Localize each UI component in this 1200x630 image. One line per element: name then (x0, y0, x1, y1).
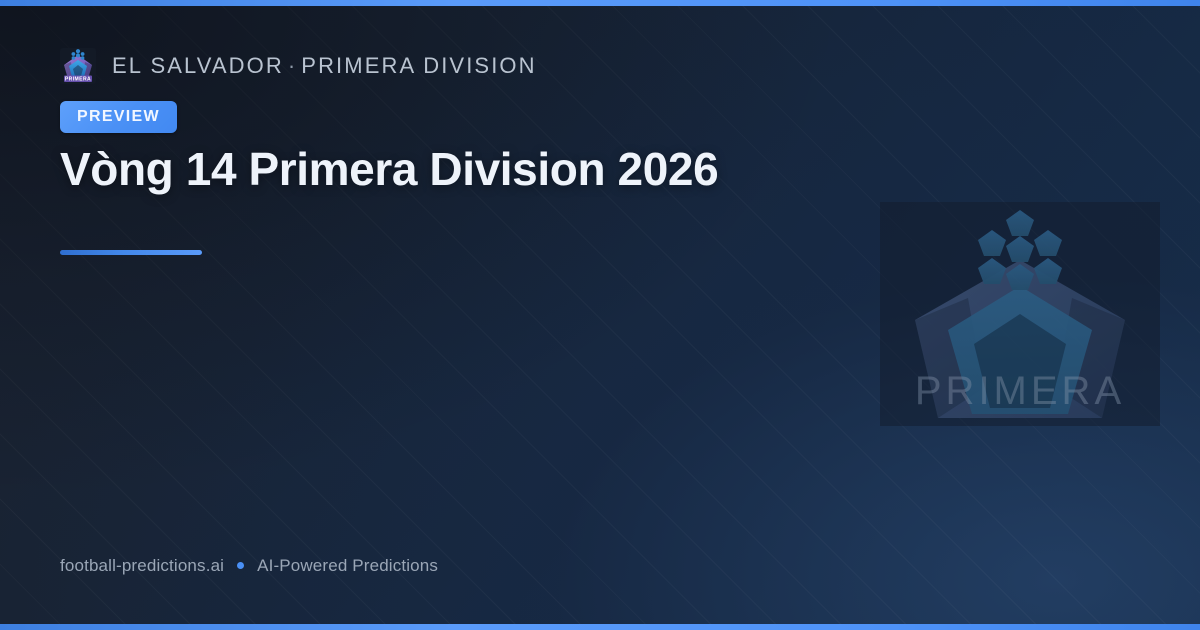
league-header-text: EL SALVADOR·PRIMERA DIVISION (112, 55, 537, 77)
league-header: PRIMERA EL SALVADOR·PRIMERA DIVISION (60, 48, 537, 84)
league-crest-icon: PRIMERA (60, 48, 96, 84)
dot-separator-icon (237, 562, 244, 569)
card-content: PRIMERA EL SALVADOR·PRIMERA DIVISION PRE… (60, 0, 890, 630)
status-badge-preview: PREVIEW (60, 101, 177, 133)
footer-tagline: AI-Powered Predictions (257, 557, 438, 574)
country-label: EL SALVADOR (112, 53, 284, 78)
preview-card: PRIMERA (0, 0, 1200, 630)
bottom-accent-bar (0, 624, 1200, 630)
status-badge-label: PREVIEW (77, 109, 160, 125)
page-title: Vòng 14 Primera Division 2026 (60, 142, 890, 196)
footer: football-predictions.ai AI-Powered Predi… (60, 557, 438, 574)
header-separator: · (284, 53, 301, 78)
svg-text:PRIMERA: PRIMERA (65, 77, 91, 83)
league-label: PRIMERA DIVISION (301, 53, 536, 78)
top-accent-bar (0, 0, 1200, 6)
footer-site-name: football-predictions.ai (60, 557, 224, 574)
watermark-league-crest-icon: PRIMERA (880, 202, 1160, 426)
svg-text:PRIMERA: PRIMERA (915, 369, 1125, 413)
title-accent-underline (60, 250, 202, 255)
